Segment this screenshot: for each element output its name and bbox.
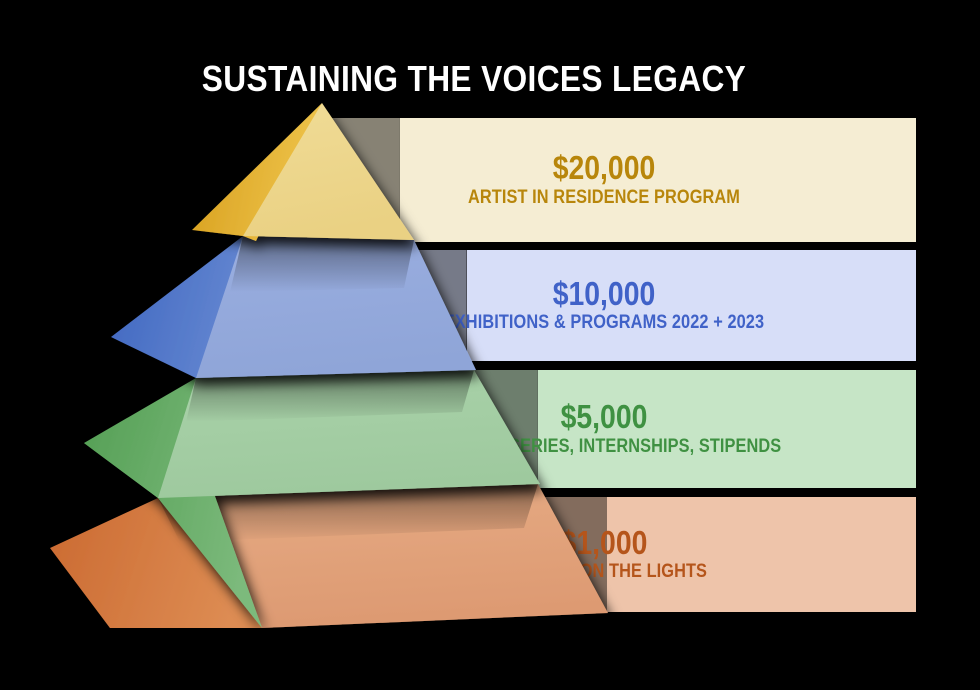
page-title: SUSTAINING THE VOICES LEGACY: [57, 58, 891, 100]
tier-3-amount: $5,000: [308, 400, 900, 435]
tier-banner-3-text: $5,000 LECTURE SERIES, INTERNSHIPS, STIP…: [0, 400, 948, 457]
tier-banner-2: $10,000 EXHIBITIONS & PROGRAMS 2022 + 20…: [0, 250, 948, 361]
tier-4-description: KEEPING ON THE LIGHTS: [308, 561, 900, 583]
tier-2-description: EXHIBITIONS & PROGRAMS 2022 + 2023: [308, 312, 900, 334]
tier-banner-3: $5,000 LECTURE SERIES, INTERNSHIPS, STIP…: [0, 370, 948, 488]
tier-1-amount: $20,000: [308, 151, 900, 186]
tier-2-amount: $10,000: [308, 277, 900, 312]
tier-banner-4: $1,000 KEEPING ON THE LIGHTS: [0, 497, 948, 612]
tier-banner-4-text: $1,000 KEEPING ON THE LIGHTS: [0, 526, 948, 583]
tier-4-amount: $1,000: [308, 526, 900, 561]
tier-banner-1: $20,000 ARTIST IN RESIDENCE PROGRAM: [0, 118, 948, 242]
tier-banner-2-text: $10,000 EXHIBITIONS & PROGRAMS 2022 + 20…: [0, 277, 948, 334]
infographic-canvas: $20,000 ARTIST IN RESIDENCE PROGRAM $10,…: [0, 0, 980, 690]
tier-1-description: ARTIST IN RESIDENCE PROGRAM: [308, 187, 900, 209]
tier-banner-1-text: $20,000 ARTIST IN RESIDENCE PROGRAM: [0, 151, 948, 208]
tier-3-description: LECTURE SERIES, INTERNSHIPS, STIPENDS: [308, 436, 900, 458]
